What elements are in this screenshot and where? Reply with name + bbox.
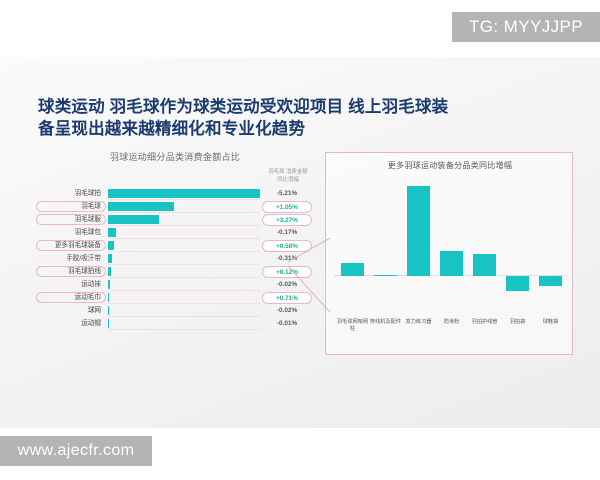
legend-line-1: 羽毛球 消费金额 [259, 169, 317, 177]
left-chart-row: 羽毛球拍-5.21% [30, 188, 320, 200]
left-chart-title: 羽球运动细分品类消费金额占比 [30, 150, 320, 163]
left-chart-bar [108, 306, 109, 315]
right-chart-bar [506, 276, 529, 291]
left-chart-bar [108, 293, 109, 302]
left-chart-category-label: 羽毛球服 [30, 214, 104, 226]
left-chart-bar [108, 202, 174, 211]
right-chart-plot [334, 179, 566, 314]
right-chart-column [501, 179, 534, 314]
right-chart-bar [407, 186, 430, 276]
right-chart-column [369, 179, 402, 314]
left-chart-row: 运动毛巾+0.71% [30, 292, 320, 304]
left-chart-bar [108, 267, 111, 276]
telegram-watermark-badge: TG: MYYJJPP [452, 12, 600, 42]
left-chart-category-label: 羽毛球拍线 [30, 266, 104, 278]
left-chart-yoy-value: +1.05% [262, 201, 312, 213]
left-chart-bar-track [108, 240, 260, 252]
right-chart-bar [341, 263, 364, 276]
callout-connector [286, 236, 332, 314]
left-chart-bar-track [108, 253, 260, 265]
left-chart-bar [108, 228, 116, 237]
right-chart-column [402, 179, 435, 314]
right-chart-panel: 更多羽球运动装备分品类同比增幅 羽毛球网架网柱穿线机及配件发力练习器防滑粉羽拍护… [325, 152, 573, 355]
left-chart-bar-track [108, 266, 260, 278]
right-chart-x-label: 羽拍护线管 [468, 319, 501, 326]
left-chart-value-column-header: 羽毛球 消费金额 同比增幅 [259, 169, 317, 184]
left-chart-yoy-value: -0.01% [262, 318, 312, 330]
left-chart-row: 羽毛球包-0.17% [30, 227, 320, 239]
slide-title: 球类运动 羽毛球作为球类运动受欢迎项目 线上羽毛球装 备呈现出越来越精细化和专业… [38, 96, 508, 140]
right-chart-bar [473, 254, 496, 276]
title-line-1: 球类运动 羽毛球作为球类运动受欢迎项目 线上羽毛球装 [38, 98, 448, 116]
right-chart-x-label: 防滑粉 [435, 319, 468, 326]
right-chart-bar [539, 276, 562, 286]
title-line-2: 备呈现出越来越精细化和专业化趋势 [38, 120, 305, 138]
right-chart-x-label: 发力练习器 [402, 319, 435, 326]
left-chart-bar [108, 254, 112, 263]
left-chart-bar-track [108, 214, 260, 226]
right-chart-x-label: 穿线机及配件 [369, 319, 402, 326]
left-chart-yoy-value: -5.21% [262, 188, 312, 200]
left-chart-row: 羽毛球+1.05% [30, 201, 320, 213]
left-chart-row: 运动袜-0.02% [30, 279, 320, 291]
left-chart-panel: 羽球运动细分品类消费金额占比 羽毛球 消费金额 同比增幅 羽毛球拍-5.21%羽… [30, 150, 320, 355]
left-chart-row: 手胶/吸汗带-0.31% [30, 253, 320, 265]
left-chart-row: 球网-0.02% [30, 305, 320, 317]
right-chart-bar [440, 251, 463, 276]
left-chart-category-label: 羽毛球 [30, 201, 104, 213]
left-chart-bar-track [108, 227, 260, 239]
right-chart-x-label: 球鞋袋 [534, 319, 567, 326]
slide-page: TG: MYYJJPP www.ajecfr.com 球类运动 羽毛球作为球类运… [0, 0, 600, 480]
legend-line-2: 同比增幅 [259, 177, 317, 185]
left-chart-bar [108, 215, 159, 224]
left-chart-bar [108, 280, 110, 289]
right-chart-x-label: 羽毛球网架网柱 [336, 319, 369, 332]
right-chart-x-label: 羽拍袋 [501, 319, 534, 326]
left-chart-row: 运动帽-0.01% [30, 318, 320, 330]
site-watermark-badge: www.ajecfr.com [0, 436, 152, 466]
left-chart-category-label: 运动袜 [30, 279, 104, 291]
left-chart-bar-track [108, 318, 260, 330]
left-chart-bar [108, 319, 109, 328]
left-chart-row: 更多羽毛球装备+0.58% [30, 240, 320, 252]
left-chart-category-label: 球网 [30, 305, 104, 317]
left-chart-category-label: 羽毛球拍 [30, 188, 104, 200]
left-chart-bar-track [108, 188, 260, 200]
left-chart-yoy-value: +3.27% [262, 214, 312, 226]
left-chart-bar-track [108, 305, 260, 317]
right-chart-x-axis: 羽毛球网架网柱穿线机及配件发力练习器防滑粉羽拍护线管羽拍袋球鞋袋 [334, 319, 566, 345]
left-chart-bar [108, 241, 114, 250]
right-chart-column [534, 179, 567, 314]
left-chart-bar-track [108, 279, 260, 291]
left-chart-bar [108, 189, 260, 198]
left-chart-category-label: 更多羽毛球装备 [30, 240, 104, 252]
left-chart-bar-track [108, 292, 260, 304]
left-chart-row: 羽毛球服+3.27% [30, 214, 320, 226]
right-chart-column [435, 179, 468, 314]
left-chart-category-label: 运动帽 [30, 318, 104, 330]
left-chart-row: 羽毛球拍线+0.12% [30, 266, 320, 278]
left-chart-category-label: 羽毛球包 [30, 227, 104, 239]
right-chart-bar [374, 275, 397, 277]
left-chart-category-label: 手胶/吸汗带 [30, 253, 104, 265]
left-chart-category-label: 运动毛巾 [30, 292, 104, 304]
right-chart-title: 更多羽球运动装备分品类同比增幅 [326, 160, 574, 171]
right-chart-column [468, 179, 501, 314]
right-chart-column [336, 179, 369, 314]
left-chart-bar-track [108, 201, 260, 213]
